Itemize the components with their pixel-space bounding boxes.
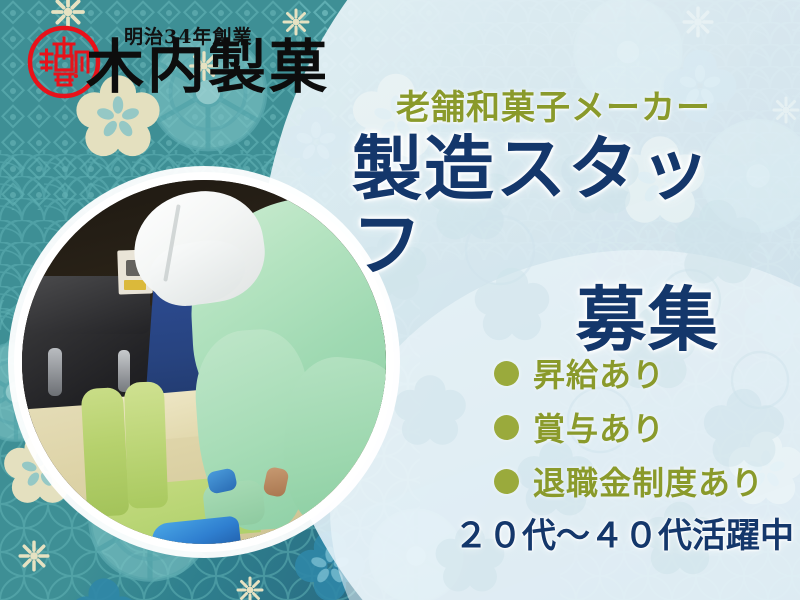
subheadline: 老舗和菓子メーカー [396,80,711,129]
bullet-circle-icon [494,415,519,440]
benefits-list: 昇給あり 賞与あり 退職金制度あり [494,348,794,510]
benefit-item: 退職金制度あり [494,456,794,506]
job-advertisement-poster: 明治34年創業 木内製菓 老舗和菓子メーカー 製造スタッフ 募集 昇給あり 賞与… [0,0,800,600]
benefit-label: 退職金制度あり [533,458,764,504]
benefit-item: 賞与あり [494,402,794,452]
worker-photo-circle [14,172,394,552]
benefit-label: 昇給あり [533,350,665,396]
bullet-circle-icon [494,361,519,386]
headline-line-1: 製造スタッフ [352,132,752,283]
age-range-note: ２０代〜４０代活躍中！ [454,508,800,557]
worker-photo [22,180,386,544]
company-name: 木内製菓 [86,38,330,96]
benefit-item: 昇給あり [494,348,794,398]
benefit-label: 賞与あり [533,404,665,450]
main-headline: 製造スタッフ 募集 [352,132,752,359]
bullet-circle-icon [494,469,519,494]
